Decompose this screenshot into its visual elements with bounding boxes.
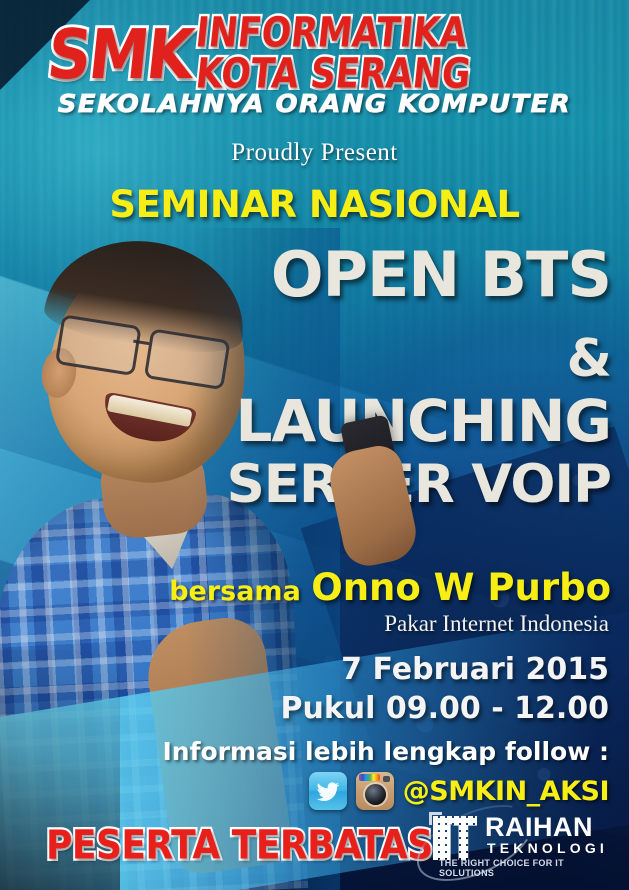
title-line-open-bts: OPEN BTS	[271, 244, 611, 306]
instagram-camera-icon[interactable]	[356, 772, 394, 810]
instagram-flash	[383, 776, 390, 782]
sponsor-subtitle-label: TEKNOLOGI	[487, 840, 608, 856]
speaker-prefix-label: bersama	[169, 576, 301, 607]
follow-instruction-label: Informasi lebih lengkap follow :	[162, 737, 609, 766]
instagram-lens	[365, 784, 386, 805]
logo-wordmark-row: SMK INFORMATIKA KOTA SERANG	[0, 18, 629, 76]
logo-right-stack: INFORMATIKA KOTA SERANG	[196, 16, 465, 91]
sponsor-name-label: RAIHAN	[485, 812, 593, 843]
logo-informatika-text: INFORMATIKA	[194, 12, 473, 53]
logo-tagline: SEKOLAHNYA ORANG KOMPUTER	[0, 89, 629, 118]
proudly-present-label: Proudly Present	[0, 139, 629, 167]
event-kind-heading: SEMINAR NASIONAL	[0, 183, 629, 226]
title-ampersand: &	[567, 333, 611, 385]
sponsor-logo-raihan-teknologi: RAIHAN TEKNOLOGI THE RIGHT CHOICE FOR IT…	[411, 810, 611, 872]
social-handle-label[interactable]: @SMKIN_AKSI	[403, 776, 609, 807]
event-poster: SMK INFORMATIKA KOTA SERANG SEKOLAHNYA O…	[0, 0, 629, 890]
title-line-launching: LAUNCHING	[235, 392, 611, 450]
instagram-rainbow-stripe	[359, 774, 380, 781]
title-line-server-voip: SERVER VOIP	[227, 458, 611, 511]
logo-smk-text: SMK	[44, 15, 196, 95]
event-date-label: 7 Februari 2015	[341, 652, 609, 687]
sponsor-tagline-label: THE RIGHT CHOICE FOR IT SOLUTIONS	[439, 858, 611, 878]
speaker-name-row: bersama Onno W Purbo	[169, 566, 611, 609]
speaker-role-label: Pakar Internet Indonesia	[384, 611, 609, 637]
school-logo: SMK INFORMATIKA KOTA SERANG SEKOLAHNYA O…	[0, 18, 629, 118]
speaker-name-label: Onno W Purbo	[311, 566, 611, 609]
limited-seats-notice: PESERTA TERBATAS	[46, 823, 433, 869]
event-time-label: Pukul 09.00 - 12.00	[280, 691, 609, 726]
social-links-row: @SMKIN_AKSI	[309, 772, 609, 810]
twitter-bird-icon[interactable]	[309, 772, 347, 810]
